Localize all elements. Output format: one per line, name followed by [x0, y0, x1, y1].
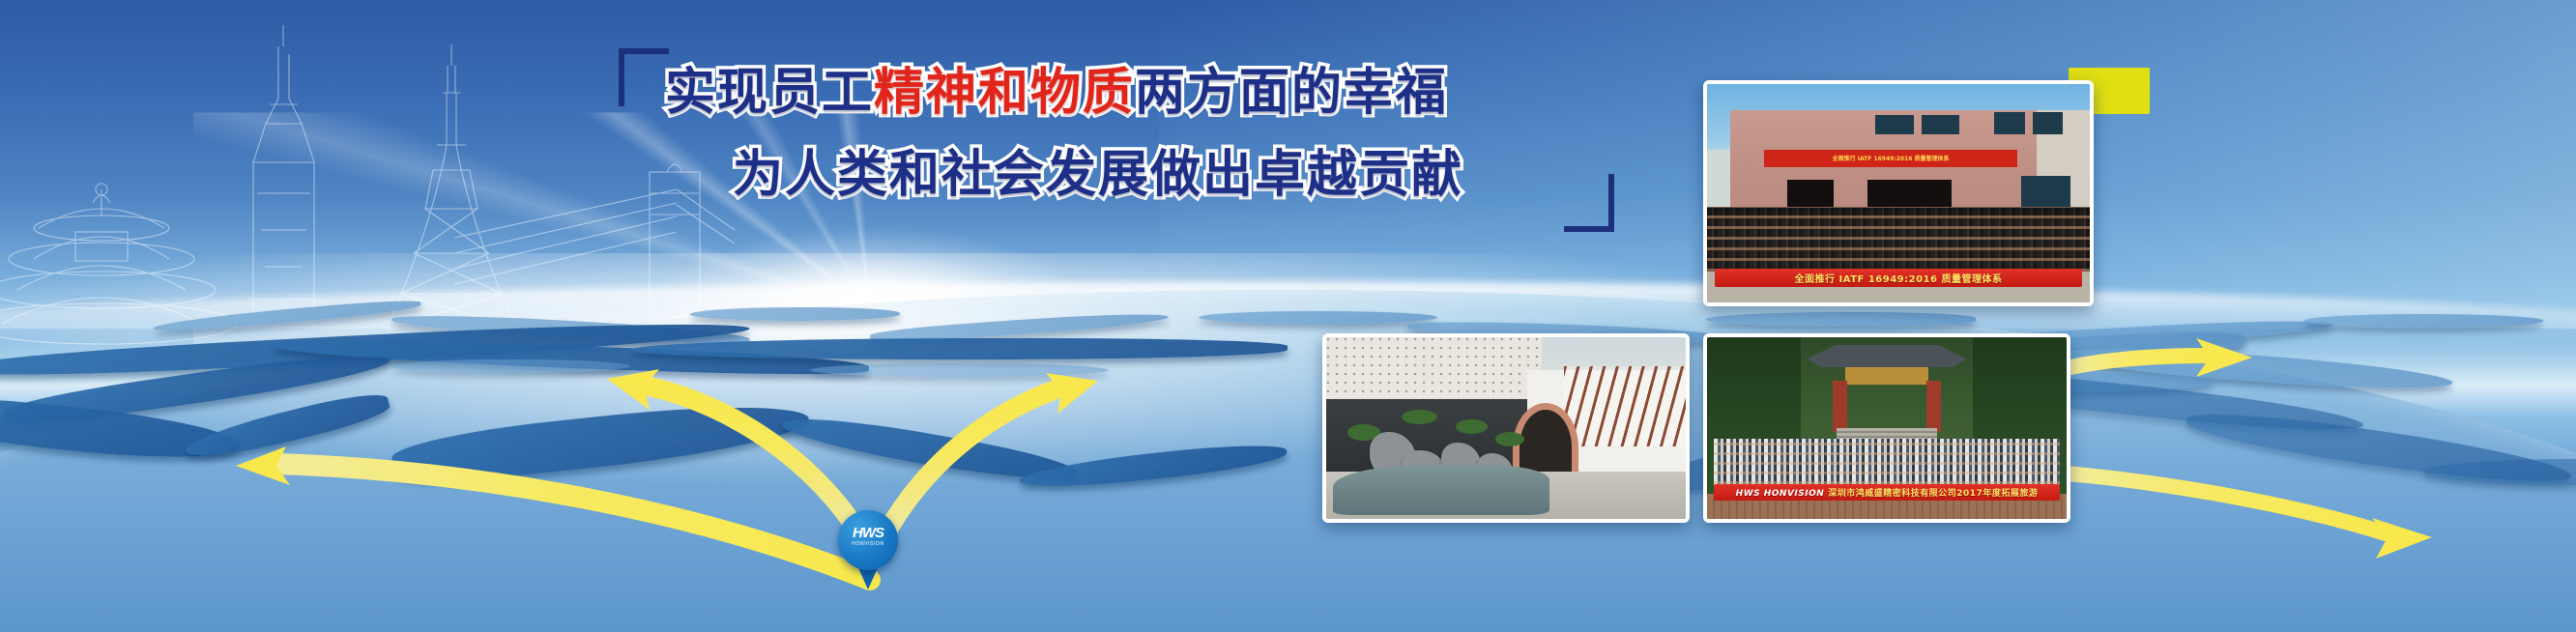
headline-block: 实现员工精神和物质两方面的幸福 为人类和社会发展做出卓越贡献 — [619, 48, 1614, 232]
continent-india — [391, 394, 812, 488]
photo-temple-outing[interactable]: HWS HONVISION深圳市鸿威盛精密科技有限公司2017年度拓展旅游 — [1703, 333, 2070, 523]
photo-window — [1875, 115, 1914, 134]
banner-logo-text: HWS HONVISION — [1736, 489, 1825, 499]
corner-bracket-top-left — [619, 48, 669, 106]
continent-shape — [690, 307, 899, 321]
photo-crowd — [1707, 207, 2090, 273]
photo-wall-planter — [1495, 432, 1524, 446]
photo-pergola — [1564, 366, 1686, 446]
photo-gate-column — [1926, 381, 1941, 431]
photo-wall-planter — [1456, 419, 1488, 434]
pin-circle-shape — [838, 510, 898, 570]
headline-line-2: 为人类和社会发展做出卓越贡献 — [733, 150, 1463, 200]
continent-shape — [1199, 311, 1437, 325]
continent-shape — [2304, 314, 2543, 328]
headline-line2-text: 为人类和社会发展做出卓越贡献 — [733, 146, 1463, 204]
honvision-map-pin-logo[interactable]: HWS HONVISION — [838, 510, 898, 589]
photo-gate-plaque — [1845, 367, 1927, 385]
banner-caption-text: 深圳市鸿威盛精密科技有限公司2017年度拓展旅游 — [1828, 489, 2038, 499]
photo-window — [1922, 115, 1960, 134]
headline-line1-part1: 实现员工 — [665, 64, 874, 122]
headline-line-1: 实现员工精神和物质两方面的幸福 — [665, 68, 1448, 118]
photo-wall-banner: 全面推行 IATF 16949:2016 质量管理体系 — [1764, 150, 2016, 167]
continent-shape — [630, 338, 1288, 359]
photo-factory-group[interactable]: 全面推行 IATF 16949:2016 质量管理体系 全面推行 IATF 16… — [1703, 80, 2094, 306]
photo-pond — [1333, 465, 1548, 516]
corner-bracket-bottom-right — [1564, 174, 1614, 232]
photo-caption-banner: HWS HONVISION深圳市鸿威盛精密科技有限公司2017年度拓展旅游 — [1714, 484, 2059, 501]
continent-shape — [810, 363, 1109, 377]
photo-temple-gate — [1808, 345, 1966, 432]
photo-window — [2033, 112, 2064, 134]
photo-gate-column — [1833, 381, 1847, 431]
globe-surface — [0, 290, 2576, 632]
photo-gate-roof — [1808, 345, 1966, 367]
photo-window — [1994, 112, 2025, 134]
headline-line1-highlight: 精神和物质 — [874, 64, 1135, 122]
headline-line1-part2: 两方面的幸福 — [1135, 64, 1448, 122]
photo-garden-courtyard[interactable] — [1322, 333, 1690, 523]
corporate-culture-banner: 实现员工精神和物质两方面的幸福 为人类和社会发展做出卓越贡献 全面推行 IATF… — [0, 0, 2576, 632]
photo-textured-wall — [1326, 337, 1542, 406]
continent-shape — [1706, 312, 1975, 326]
continent-shape — [391, 359, 630, 373]
photo-caption-banner: 全面推行 IATF 16949:2016 质量管理体系 — [1715, 269, 2082, 287]
continent-shape — [1019, 440, 1289, 494]
